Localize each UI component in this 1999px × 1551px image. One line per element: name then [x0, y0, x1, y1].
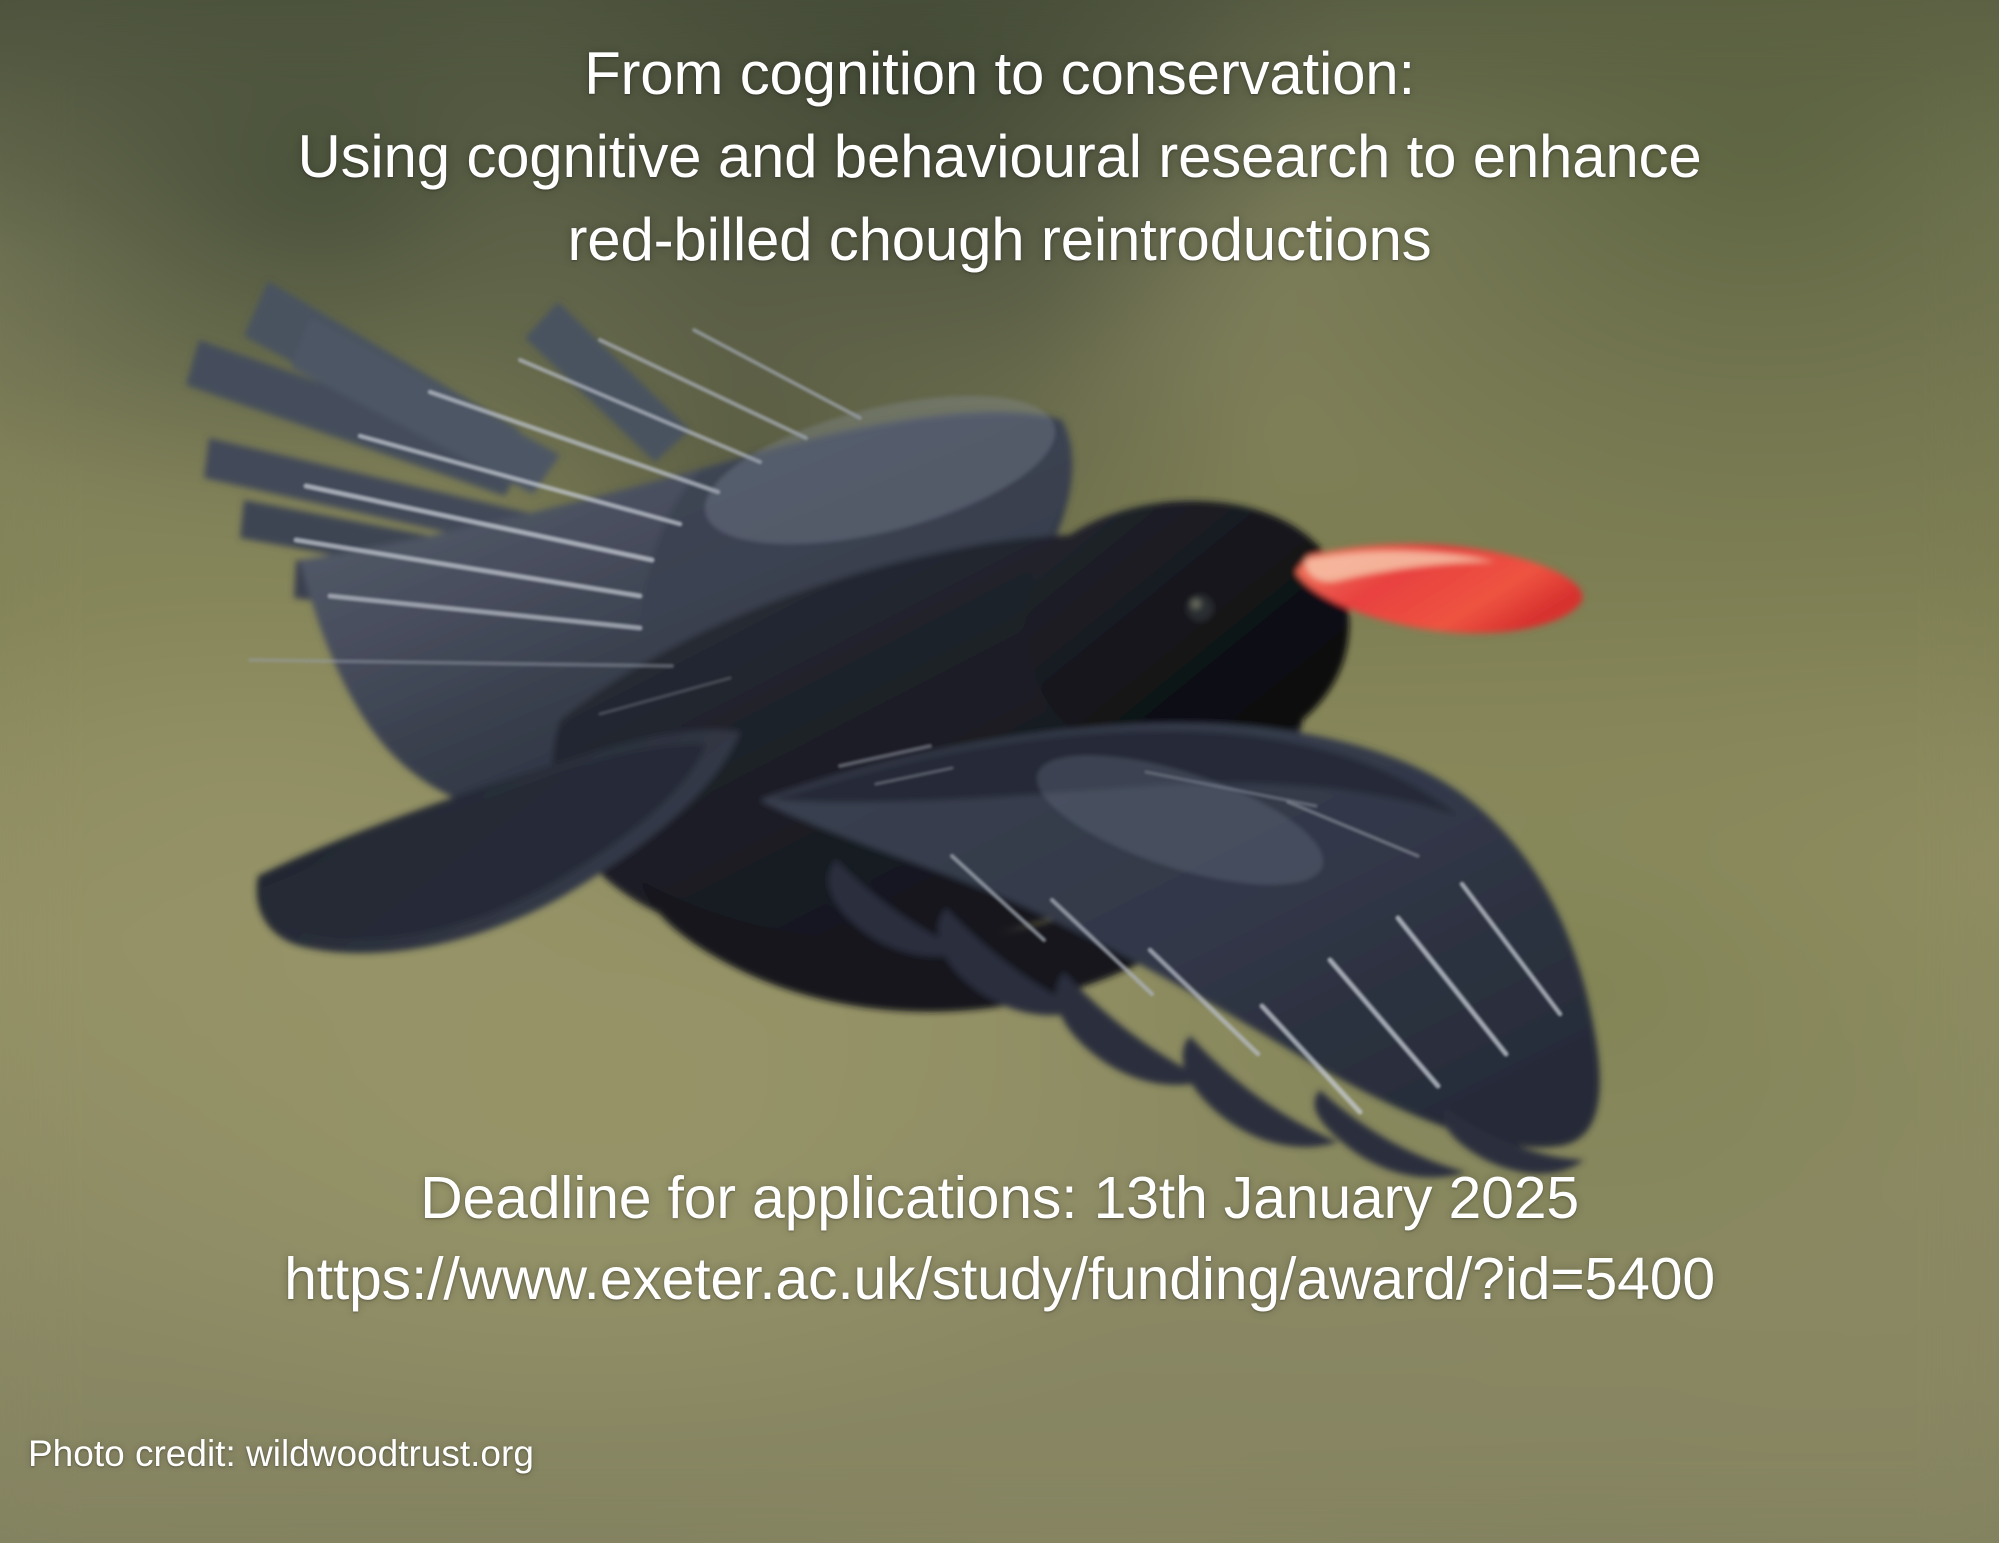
slide-bottom-edge: [0, 1543, 1999, 1551]
presentation-slide: From cognition to conservation: Using co…: [0, 0, 1999, 1543]
deadline-text: Deadline for applications: 13th January …: [0, 1158, 1999, 1239]
lower-wing: [760, 723, 1600, 1177]
beak: [1296, 544, 1583, 633]
wing-sheen: [690, 366, 1337, 912]
bird-body: [553, 535, 1308, 1012]
title-line-3: red-billed chough reintroductions: [0, 198, 1999, 281]
application-link[interactable]: https://www.exeter.ac.uk/study/funding/a…: [0, 1239, 1999, 1320]
head: [1026, 501, 1349, 764]
slide-title: From cognition to conservation: Using co…: [0, 32, 1999, 281]
title-line-2: Using cognitive and behavioural research…: [0, 115, 1999, 198]
upper-wing: [186, 281, 1072, 825]
photo-credit: Photo credit: wildwoodtrust.org: [28, 1430, 928, 1478]
call-to-action-block: Deadline for applications: 13th January …: [0, 1158, 1999, 1320]
title-line-1: From cognition to conservation:: [0, 32, 1999, 115]
tail: [257, 730, 740, 954]
feather-shafts: [250, 330, 1560, 1112]
eye: [1187, 595, 1213, 621]
